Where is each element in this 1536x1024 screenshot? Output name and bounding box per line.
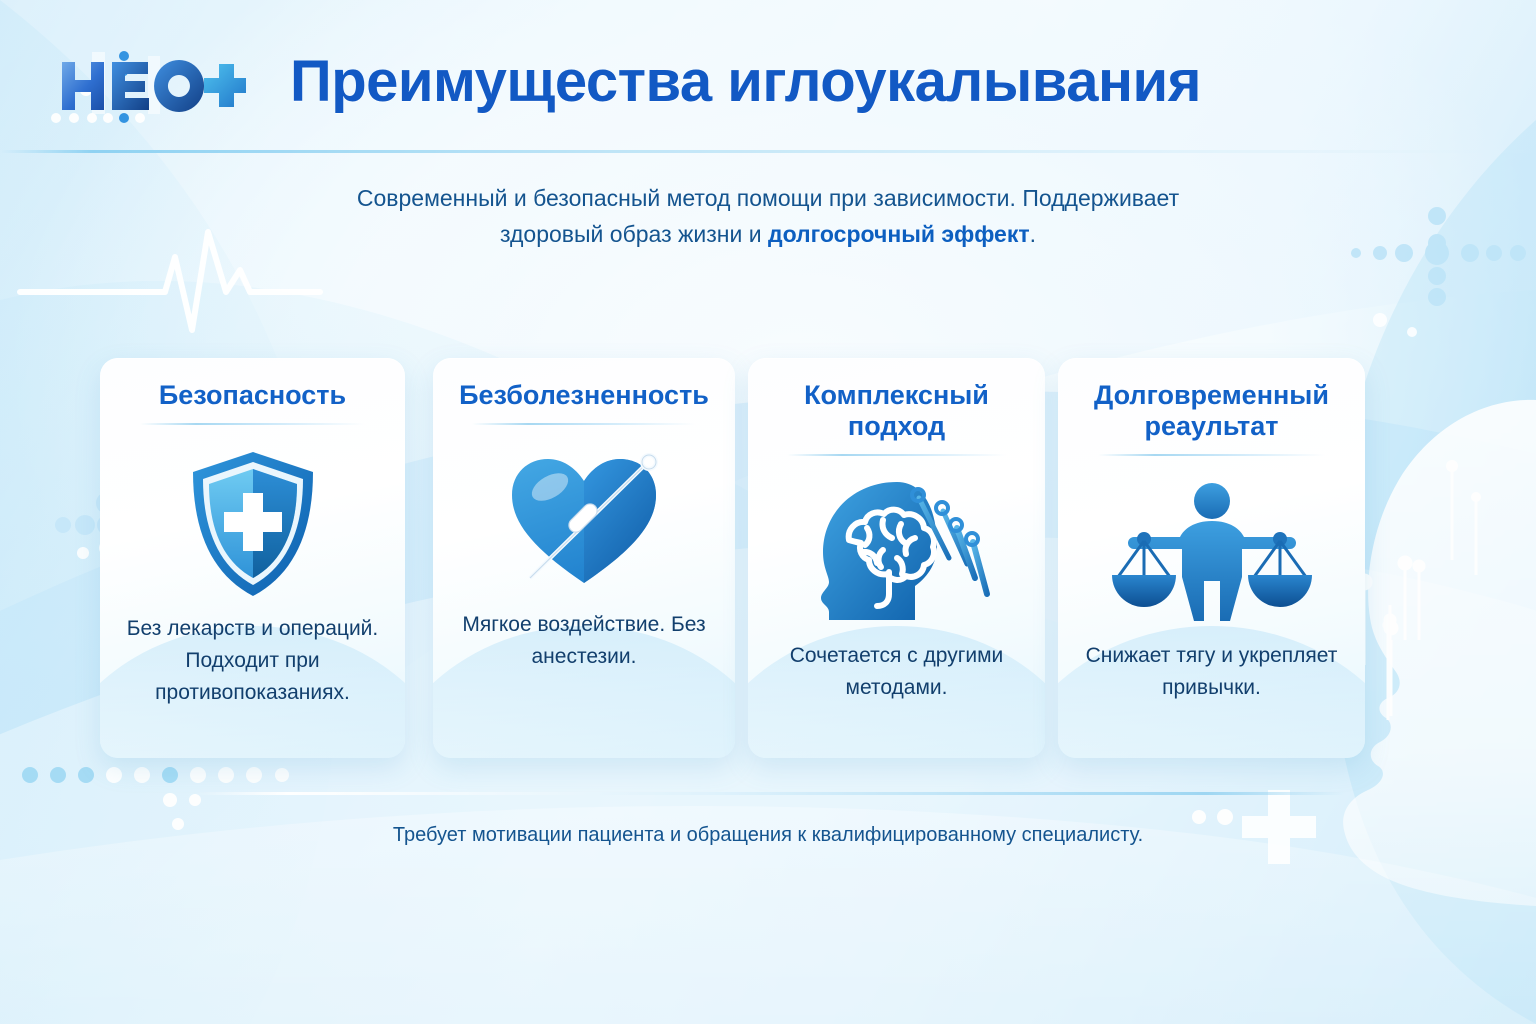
benefit-card-complex-approach[interactable]: Комплексный подход xyxy=(748,358,1045,758)
subtitle-line-2-post: . xyxy=(1030,221,1036,247)
card-title: Долговременный реаультат xyxy=(1072,380,1351,442)
heart-needle-icon xyxy=(433,435,735,605)
benefit-card-long-term-result[interactable]: Долговременный реаультат xyxy=(1058,358,1365,758)
subtitle: Современный и безопасный метод помощи пр… xyxy=(268,180,1268,253)
subtitle-highlight: долгосрочный эффект xyxy=(768,221,1030,247)
person-scales-icon xyxy=(1058,466,1365,636)
dotted-row-pattern xyxy=(22,767,178,783)
page-title: Преимущества иглоукалывания xyxy=(290,52,1290,113)
card-title: Безболезненность xyxy=(447,380,721,411)
card-divider xyxy=(472,423,695,425)
card-title: Комплексный подход xyxy=(762,380,1031,442)
benefits-card-row: Безопасность xyxy=(0,358,1536,758)
infographic-stage: Преимущества иглоукалывания Современный … xyxy=(0,0,1536,1024)
shield-cross-icon xyxy=(100,439,405,609)
benefit-card-safety[interactable]: Безопасность xyxy=(100,358,405,758)
card-divider xyxy=(787,454,1007,456)
card-divider xyxy=(1098,454,1325,456)
card-title: Безопасность xyxy=(114,380,391,411)
card-description: Мягкое воздействие. Без анестезии. xyxy=(449,609,719,673)
neo-plus-logo[interactable] xyxy=(46,46,246,132)
subtitle-line-1: Современный и безопасный метод помощи пр… xyxy=(357,185,1179,211)
footer-note: Требует мотивации пациента и обращения к… xyxy=(268,824,1268,847)
card-description: Сочетается с другими методами. xyxy=(764,640,1029,704)
card-divider xyxy=(140,423,366,425)
header: Преимущества иглоукалывания xyxy=(0,0,1536,152)
card-description: Без лекарств и операций. Подходит при пр… xyxy=(116,613,389,709)
benefit-card-painless[interactable]: Безболезненность xyxy=(433,358,735,758)
dotted-cross-pattern xyxy=(1351,207,1526,306)
subtitle-line-2-pre: здоровый образ жизни и xyxy=(500,221,768,247)
card-description: Снижает тягу и укрепляет привычки. xyxy=(1074,640,1349,704)
head-brain-needles-icon xyxy=(748,466,1045,636)
footer-divider xyxy=(196,792,1344,795)
header-divider xyxy=(0,150,1536,153)
